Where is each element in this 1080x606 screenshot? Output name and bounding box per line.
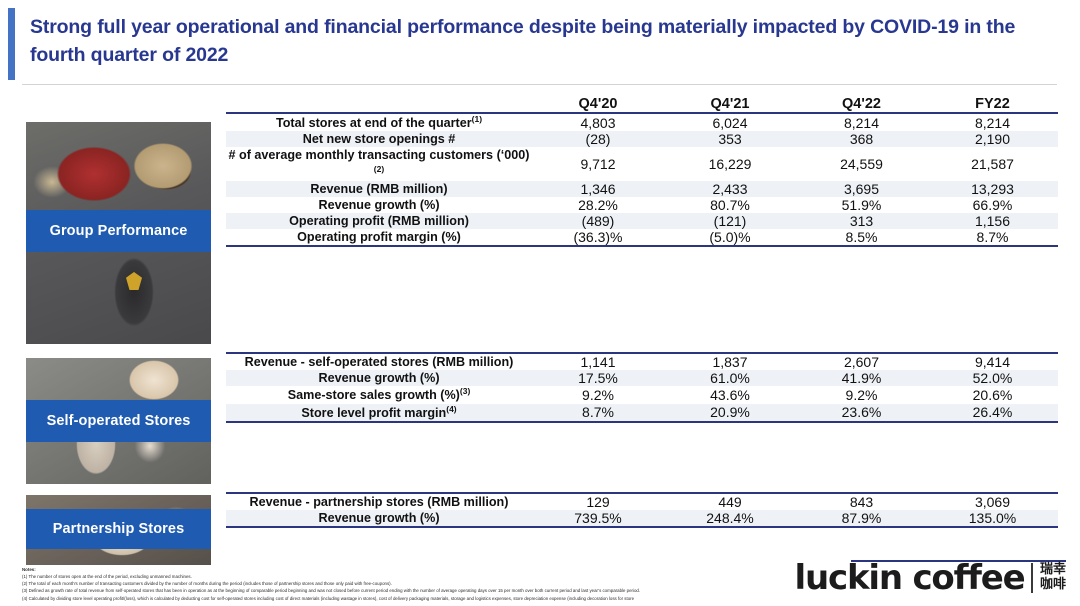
footnote-item: (3) Defined as growth rate of total reve…: [22, 587, 852, 594]
cell-value: 1,837: [664, 353, 796, 370]
cell-value: 24,559: [796, 147, 927, 180]
cell-value: 1,156: [927, 213, 1058, 229]
cell-value: 9.2%: [796, 386, 927, 403]
table-row: Operating profit (RMB million) (489) (12…: [226, 213, 1058, 229]
footnotes: Notes: (1) The number of stores open at …: [22, 566, 852, 602]
cell-value: 9,414: [927, 353, 1058, 370]
cell-value: 313: [796, 213, 927, 229]
footnote-ref: (4): [446, 404, 456, 414]
cell-value: 8,214: [796, 113, 927, 131]
row-label: Net new store openings #: [226, 131, 532, 147]
footnote-ref: (2): [374, 164, 384, 174]
cell-value: 13,293: [927, 181, 1058, 197]
column-header-q4-22: Q4'22: [796, 96, 927, 113]
table-row: Revenue - partnership stores (RMB millio…: [226, 493, 1058, 510]
cell-value: 87.9%: [796, 510, 927, 527]
table-row: Total stores at end of the quarter(1) 4,…: [226, 113, 1058, 131]
section-card-group-performance[interactable]: Group Performance: [26, 122, 211, 344]
cell-value: 843: [796, 493, 927, 510]
metrics-table-self-operated: Revenue - self-operated stores (RMB mill…: [226, 352, 1058, 423]
logo-chinese-line-1: 瑞幸: [1040, 563, 1066, 578]
row-label: Same-store sales growth (%)(3): [226, 386, 532, 403]
cell-value: 61.0%: [664, 370, 796, 386]
cell-value: 21,587: [927, 147, 1058, 180]
section-card-label: Partnership Stores: [26, 509, 211, 549]
cell-value: (28): [532, 131, 664, 147]
cell-value: 43.6%: [664, 386, 796, 403]
section-card-label: Group Performance: [26, 210, 211, 252]
row-label: Store level profit margin(4): [226, 404, 532, 422]
section-card-label: Self-operated Stores: [26, 400, 211, 442]
footnote-item: (2) The total of each month’s number of …: [22, 580, 852, 587]
cup-logo-icon: [126, 272, 142, 290]
footnote-item: (4) Calculated by dividing store level o…: [22, 595, 852, 602]
cell-value: (5.0)%: [664, 229, 796, 246]
cell-value: 353: [664, 131, 796, 147]
section-card-partnership-stores[interactable]: Partnership Stores: [26, 495, 211, 565]
cell-value: 9,712: [532, 147, 664, 180]
row-label: Revenue - self-operated stores (RMB mill…: [226, 353, 532, 370]
row-label: # of average monthly transacting custome…: [226, 147, 532, 180]
logo-wordmark: luckin coffee: [795, 558, 1025, 598]
table-row: Store level profit margin(4) 8.7% 20.9% …: [226, 404, 1058, 422]
cell-value: 51.9%: [796, 197, 927, 213]
logo-chinese-name: 瑞幸 咖啡: [1040, 563, 1066, 592]
cell-value: 80.7%: [664, 197, 796, 213]
table-row: Revenue growth (%) 28.2% 80.7% 51.9% 66.…: [226, 197, 1058, 213]
table-row: Revenue growth (%) 17.5% 61.0% 41.9% 52.…: [226, 370, 1058, 386]
footnotes-heading: Notes:: [22, 566, 852, 573]
row-label: Revenue (RMB million): [226, 181, 532, 197]
cell-value: 3,069: [927, 493, 1058, 510]
table-row: Same-store sales growth (%)(3) 9.2% 43.6…: [226, 386, 1058, 403]
cell-value: 9.2%: [532, 386, 664, 403]
logo-vertical-divider: [1031, 563, 1033, 593]
luckin-coffee-logo: luckin coffee 瑞幸 咖啡: [795, 558, 1066, 598]
cell-value: (121): [664, 213, 796, 229]
page-title: Strong full year operational and financi…: [30, 14, 1050, 69]
cell-value: 4,803: [532, 113, 664, 131]
footnote-ref: (3): [460, 386, 470, 396]
table-row: Operating profit margin (%) (36.3)% (5.0…: [226, 229, 1058, 246]
cell-value: 26.4%: [927, 404, 1058, 422]
cell-value: 248.4%: [664, 510, 796, 527]
cell-value: (36.3)%: [532, 229, 664, 246]
footnote-ref: (1): [472, 114, 482, 124]
cell-value: 17.5%: [532, 370, 664, 386]
cell-value: 2,607: [796, 353, 927, 370]
section-card-self-operated-stores[interactable]: Self-operated Stores: [26, 358, 211, 484]
cell-value: 20.9%: [664, 404, 796, 422]
cell-value: 20.6%: [927, 386, 1058, 403]
cell-value: 8.7%: [532, 404, 664, 422]
cell-value: 2,433: [664, 181, 796, 197]
column-header-fy22: FY22: [927, 96, 1058, 113]
cell-value: 1,141: [532, 353, 664, 370]
row-label: Operating profit margin (%): [226, 229, 532, 246]
cell-value: 2,190: [927, 131, 1058, 147]
cell-value: 3,695: [796, 181, 927, 197]
metrics-table-partnership: Revenue - partnership stores (RMB millio…: [226, 492, 1058, 528]
row-label: Revenue - partnership stores (RMB millio…: [226, 493, 532, 510]
row-label: Total stores at end of the quarter(1): [226, 113, 532, 131]
cell-value: 1,346: [532, 181, 664, 197]
table-row: # of average monthly transacting custome…: [226, 147, 1058, 180]
slide-root: Strong full year operational and financi…: [0, 0, 1080, 606]
header-divider: [22, 84, 1057, 85]
cell-value: 129: [532, 493, 664, 510]
cell-value: 66.9%: [927, 197, 1058, 213]
cell-value: 8.7%: [927, 229, 1058, 246]
row-label: Revenue growth (%): [226, 510, 532, 527]
row-label: Revenue growth (%): [226, 370, 532, 386]
logo-chinese-line-2: 咖啡: [1040, 578, 1066, 593]
cell-value: 6,024: [664, 113, 796, 131]
cell-value: 449: [664, 493, 796, 510]
table-row: Revenue - self-operated stores (RMB mill…: [226, 353, 1058, 370]
row-label: Operating profit (RMB million): [226, 213, 532, 229]
column-header-q4-20: Q4'20: [532, 96, 664, 113]
cell-value: 41.9%: [796, 370, 927, 386]
cell-value: 52.0%: [927, 370, 1058, 386]
cell-value: 8,214: [927, 113, 1058, 131]
footnote-item: (1) The number of stores open at the end…: [22, 573, 852, 580]
cell-value: 135.0%: [927, 510, 1058, 527]
title-accent-bar: [8, 8, 15, 80]
row-label: Revenue growth (%): [226, 197, 532, 213]
header-blank: [226, 96, 532, 113]
table-header-row: Q4'20 Q4'21 Q4'22 FY22: [226, 96, 1058, 113]
metrics-table-group: Q4'20 Q4'21 Q4'22 FY22 Total stores at e…: [226, 96, 1058, 247]
cell-value: 28.2%: [532, 197, 664, 213]
table-row: Revenue growth (%) 739.5% 248.4% 87.9% 1…: [226, 510, 1058, 527]
cell-value: 8.5%: [796, 229, 927, 246]
cell-value: 368: [796, 131, 927, 147]
cell-value: 16,229: [664, 147, 796, 180]
table-row: Revenue (RMB million) 1,346 2,433 3,695 …: [226, 181, 1058, 197]
column-header-q4-21: Q4'21: [664, 96, 796, 113]
cell-value: (489): [532, 213, 664, 229]
cell-value: 739.5%: [532, 510, 664, 527]
cell-value: 23.6%: [796, 404, 927, 422]
table-row: Net new store openings # (28) 353 368 2,…: [226, 131, 1058, 147]
